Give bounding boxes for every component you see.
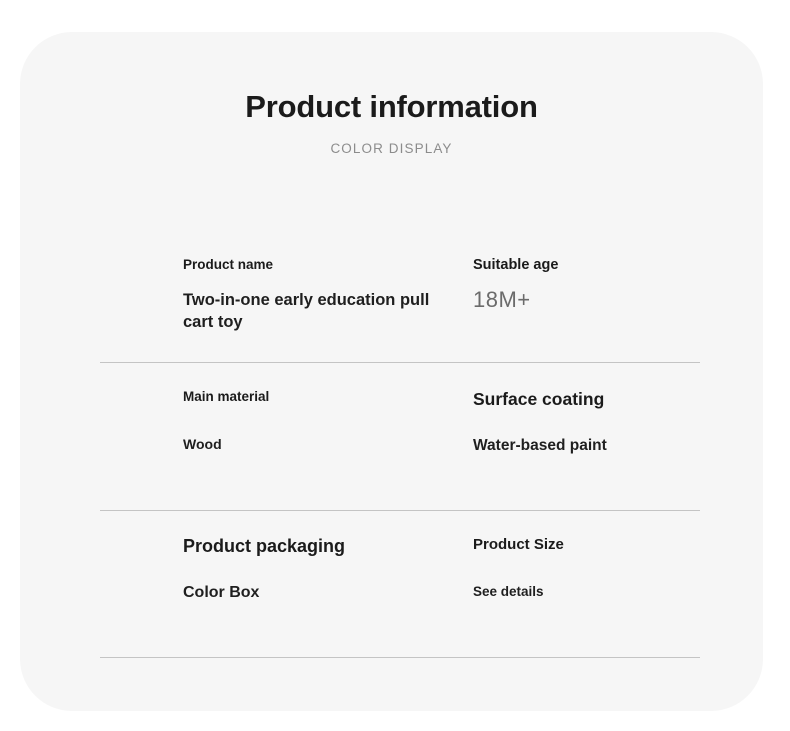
spec-value-surface-coating: Water-based paint [473,436,700,457]
spec-cell-surface-coating: Surface coating Water-based paint [445,389,700,457]
specification-table: Product name Two-in-one early education … [100,235,700,658]
spec-cell-product-name: Product name Two-in-one early education … [100,257,445,334]
page-subtitle: COLOR DISPLAY [20,141,763,156]
spec-value-product-name: Two-in-one early education pull cart toy [183,290,445,334]
spec-label-surface-coating: Surface coating [473,389,700,410]
spec-value-main-material: Wood [183,435,445,454]
spec-cell-suitable-age: Suitable age 18M+ [445,257,700,315]
spec-label-product-packaging: Product packaging [183,536,445,558]
page-title: Product information [20,90,763,124]
table-row: Product name Two-in-one early education … [100,235,700,362]
table-row: Product packaging Color Box Product Size… [100,511,700,657]
spec-cell-product-size: Product Size See details [445,536,700,601]
product-information-card: Product information COLOR DISPLAY Produc… [20,32,763,711]
spec-cell-product-packaging: Product packaging Color Box [100,536,445,603]
spec-label-product-name: Product name [183,257,445,273]
spec-value-product-size: See details [473,583,700,601]
row-divider [100,657,700,658]
spec-label-suitable-age: Suitable age [473,257,700,274]
spec-cell-main-material: Main material Wood [100,389,445,454]
spec-label-product-size: Product Size [473,536,700,554]
spec-label-main-material: Main material [183,389,445,405]
product-information-page: Product information COLOR DISPLAY Produc… [0,0,790,731]
table-row: Main material Wood Surface coating Water… [100,363,700,510]
card-header: Product information COLOR DISPLAY [20,32,763,156]
spec-value-suitable-age: 18M+ [473,285,700,315]
spec-value-product-packaging: Color Box [183,582,445,604]
